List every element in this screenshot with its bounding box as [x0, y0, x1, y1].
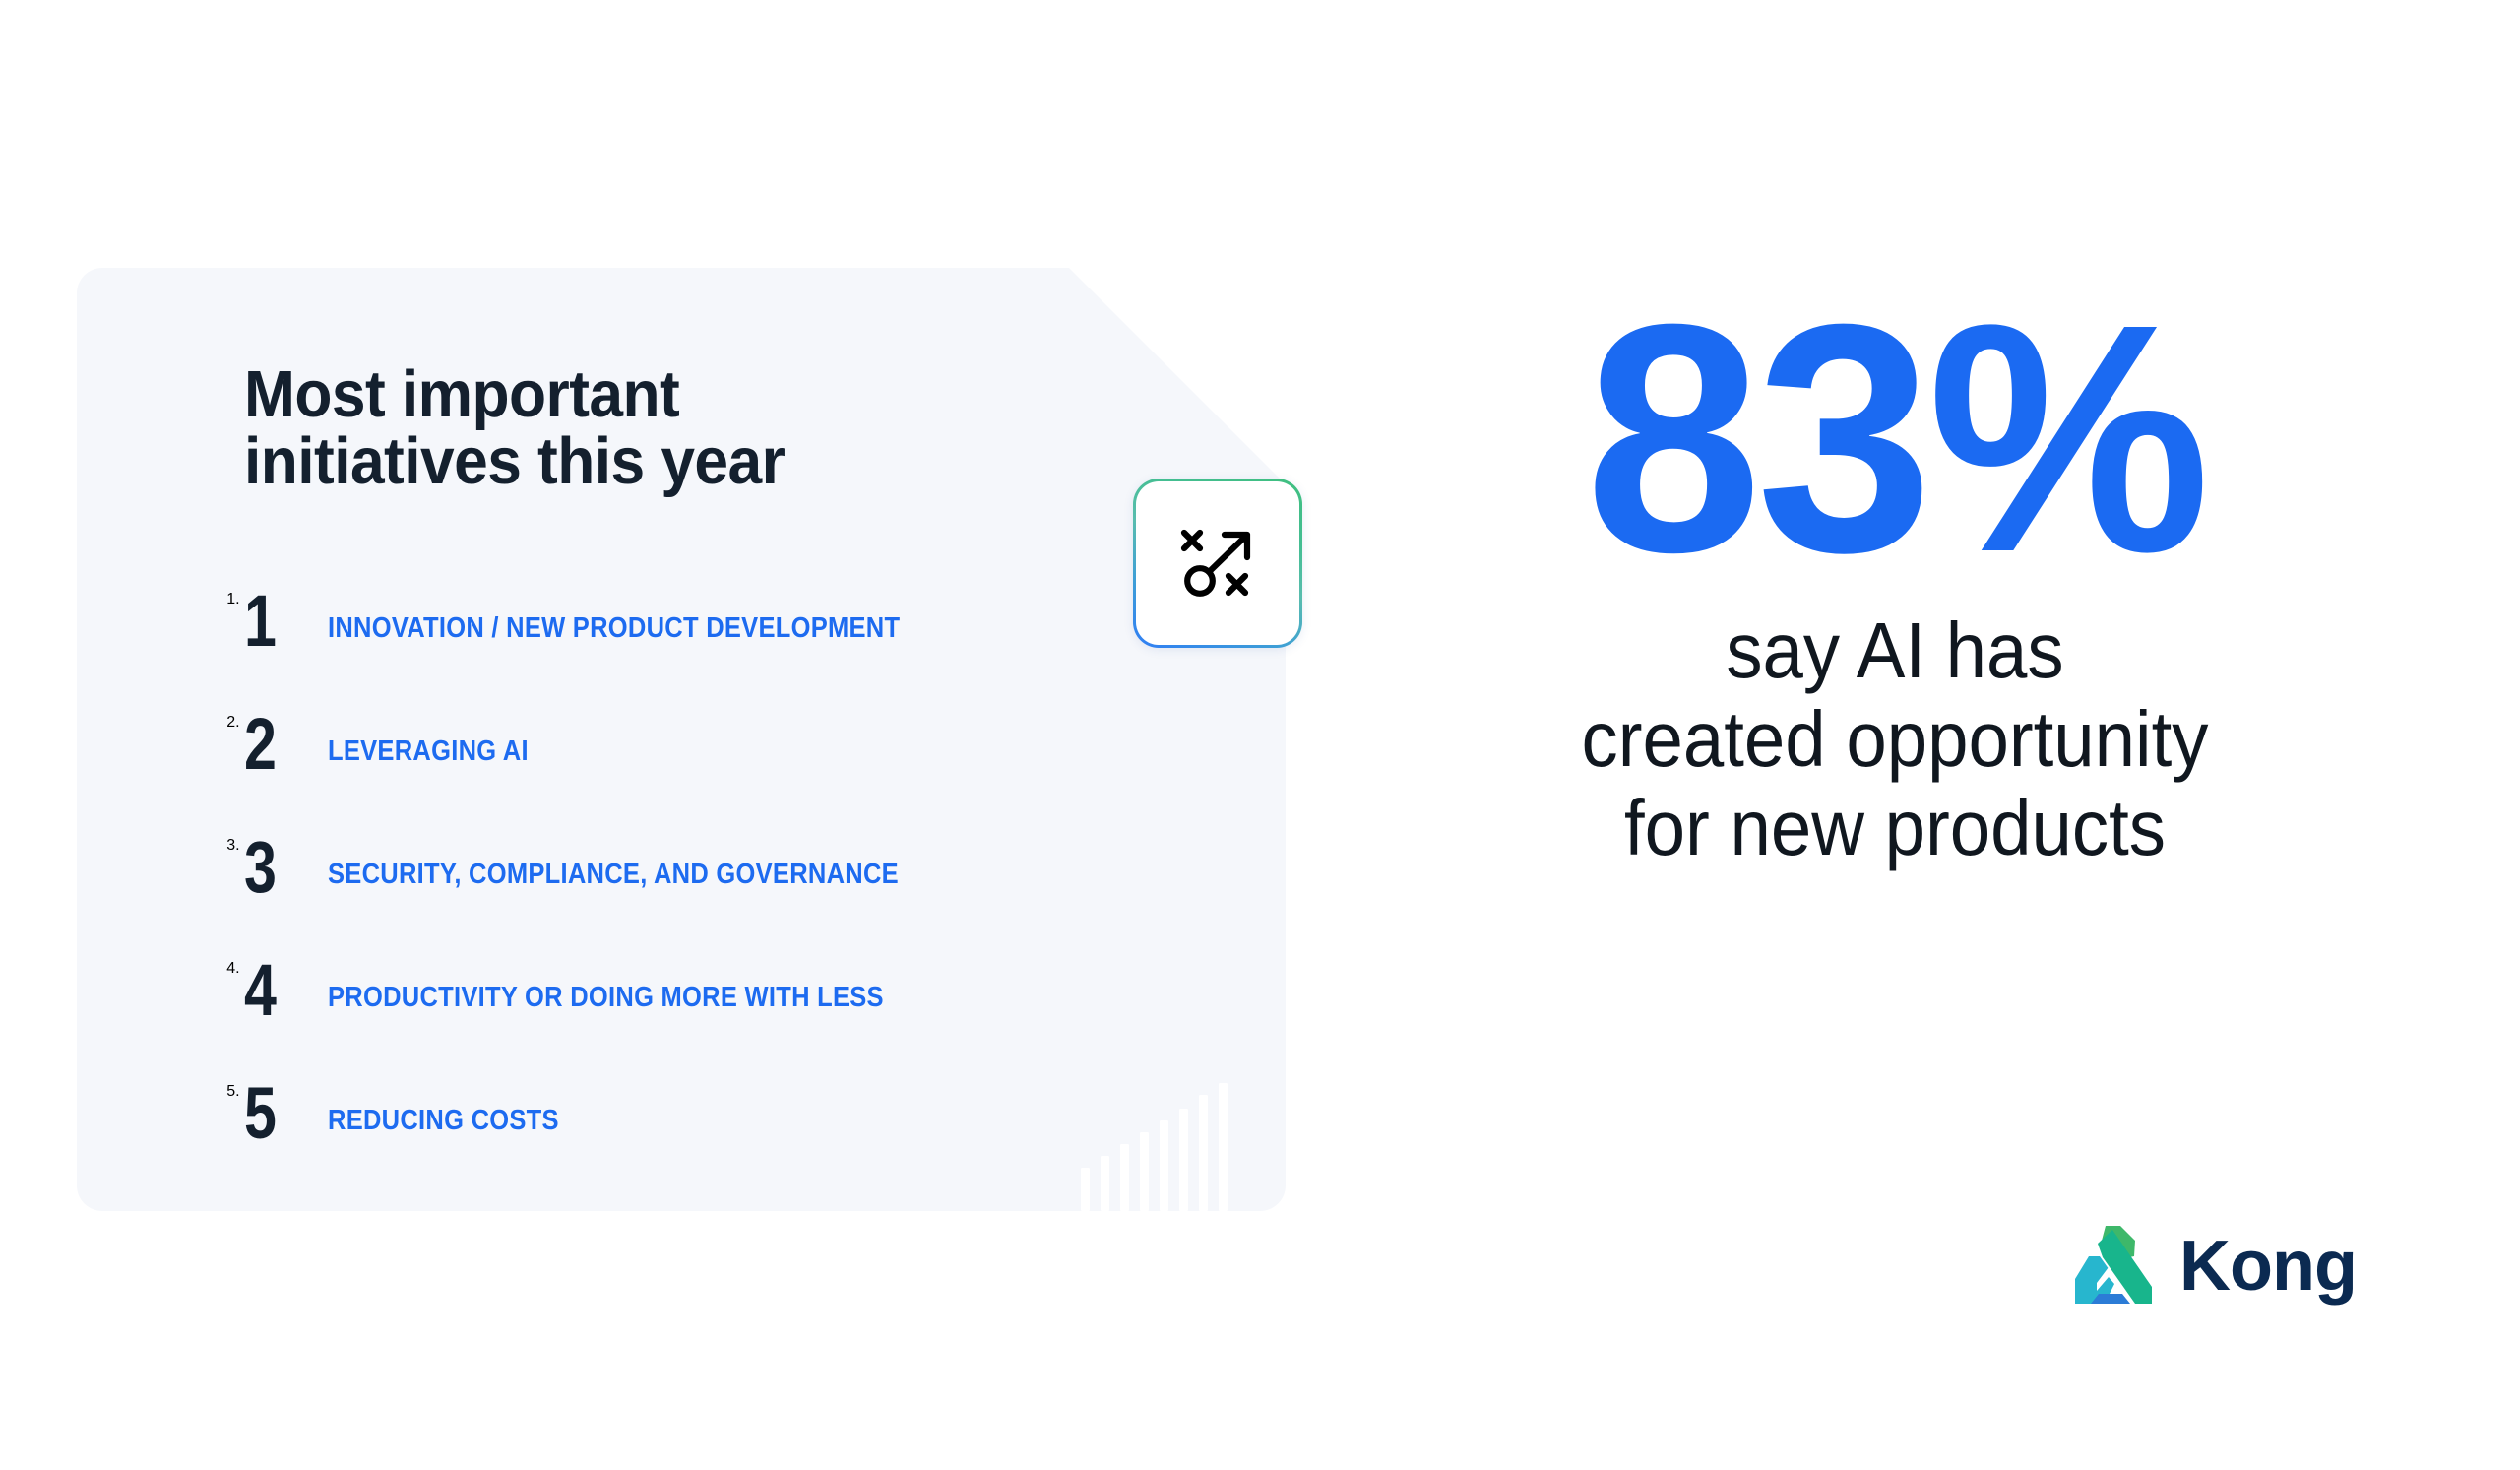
stat-caption: say AI has created opportunity for new p… — [1405, 607, 2384, 871]
list-item[interactable]: 3 SECURITY, COMPLIANCE, AND GOVERNANCE — [244, 837, 1189, 960]
list-item-rank: 3 — [244, 831, 277, 904]
stat-block: 83% say AI has created opportunity for n… — [1368, 295, 2422, 871]
initiatives-card: Most important initiatives this year 1 I… — [77, 268, 1286, 1211]
list-item[interactable]: 2 LEVERAGING AI — [244, 714, 1189, 837]
strategy-icon-tile-inner — [1136, 481, 1299, 645]
list-item-rank: 2 — [244, 708, 277, 781]
list-item-rank: 4 — [244, 954, 277, 1027]
list-item-rank: 5 — [244, 1077, 277, 1150]
list-item-label: SECURITY, COMPLIANCE, AND GOVERNANCE — [328, 859, 899, 891]
kong-mark-icon — [2069, 1224, 2160, 1309]
list-item[interactable]: 5 REDUCING COSTS — [244, 1083, 1189, 1206]
strategy-tactics-icon — [1170, 516, 1265, 610]
kong-logo: Kong — [2069, 1224, 2357, 1309]
card-surface: Most important initiatives this year 1 I… — [77, 268, 1286, 1211]
list-item-rank: 1 — [244, 585, 277, 658]
list-item-label: PRODUCTIVITY OR DOING MORE WITH LESS — [328, 982, 884, 1014]
card-title: Most important initiatives this year — [244, 361, 904, 496]
kong-wordmark: Kong — [2179, 1231, 2357, 1302]
infographic-canvas: Most important initiatives this year 1 I… — [0, 0, 2520, 1470]
list-item-label: INNOVATION / NEW PRODUCT DEVELOPMENT — [328, 612, 900, 645]
list-item[interactable]: 1 INNOVATION / NEW PRODUCT DEVELOPMENT — [244, 591, 1189, 714]
initiatives-list: 1 INNOVATION / NEW PRODUCT DEVELOPMENT 2… — [244, 591, 1189, 1206]
list-item-label: LEVERAGING AI — [328, 735, 529, 768]
list-item-label: REDUCING COSTS — [328, 1105, 559, 1137]
list-item[interactable]: 4 PRODUCTIVITY OR DOING MORE WITH LESS — [244, 960, 1189, 1083]
stat-value: 83% — [1379, 295, 2412, 581]
strategy-icon-tile — [1133, 479, 1302, 648]
